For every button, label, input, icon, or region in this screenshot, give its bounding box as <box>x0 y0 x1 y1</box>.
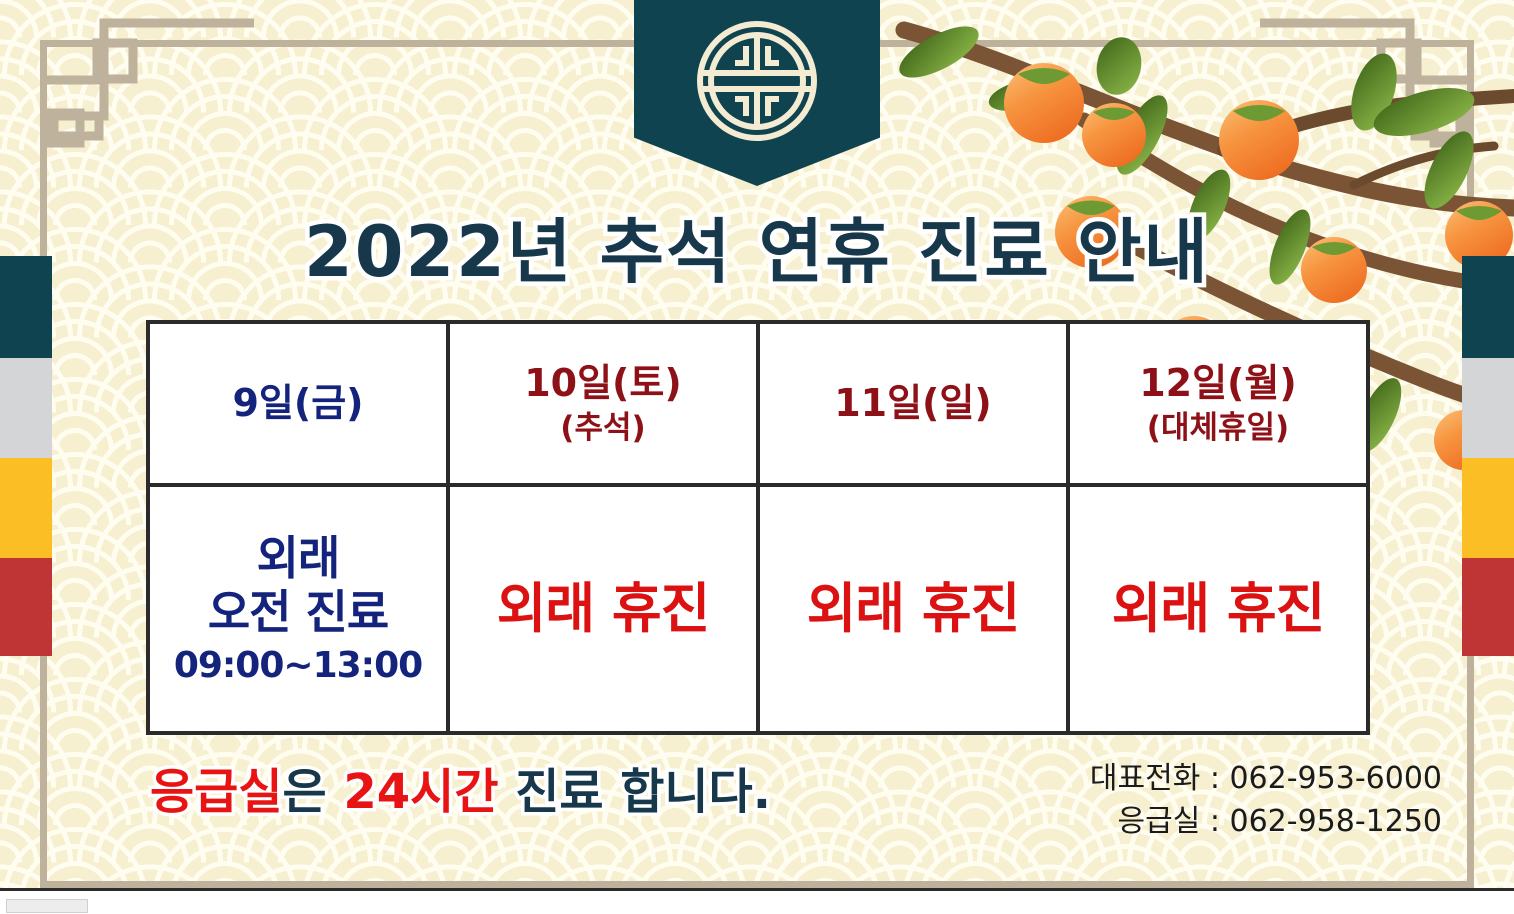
right-color-bars <box>1462 256 1514 656</box>
date-label: 10일(토) <box>524 361 682 406</box>
er-phone-line: 응급실 : 062-958-1250 <box>1090 801 1442 844</box>
table-body-cell-day-1: 외래 오전 진료 09:00~13:00 <box>150 487 450 731</box>
table-body-cell-day-3: 외래 휴진 <box>760 487 1070 731</box>
longevity-circle-emblem-icon <box>692 16 822 146</box>
date-label: 11일(일) <box>834 381 992 426</box>
table-header-cell-day-2: 10일(토) (추석) <box>450 324 760 487</box>
status-label: 외래 휴진 <box>497 577 710 641</box>
page-title: 2022년 추석 연휴 진료 안내 <box>0 196 1514 297</box>
date-label: 9일(금) <box>232 381 363 426</box>
taskbar-item-stub[interactable] <box>6 899 88 913</box>
bottom-screen-strip <box>0 891 1514 914</box>
date-label: 12일(월) <box>1139 361 1297 406</box>
date-note-label: (대체휴일) <box>1147 410 1289 447</box>
status-label: 외래 휴진 <box>807 577 1020 641</box>
contact-phone-block: 대표전화 : 062-953-6000 응급실 : 062-958-1250 <box>1090 758 1442 843</box>
color-bar-red <box>1462 558 1514 656</box>
left-color-bars <box>0 256 52 656</box>
table-body-cell-day-2: 외래 휴진 <box>450 487 760 731</box>
color-bar-gold <box>1462 458 1514 558</box>
status-label-line2: 오전 진료 <box>208 585 388 639</box>
er-notice-part-hours: 24시간 <box>343 764 498 820</box>
status-label-line1: 외래 <box>257 531 340 585</box>
status-label: 외래 휴진 <box>1112 577 1325 641</box>
emergency-room-notice: 응급실은 24시간 진료 합니다. <box>150 752 771 822</box>
meander-corner-ornament-top-right <box>1260 18 1470 168</box>
meander-corner-ornament-top-left <box>44 18 254 168</box>
hours-label: 09:00~13:00 <box>174 645 422 687</box>
er-notice-part-emergency: 응급실 <box>150 764 282 820</box>
meander-corner-icon <box>1260 18 1470 168</box>
color-bar-gold <box>0 458 52 558</box>
holiday-schedule-table: 9일(금) 10일(토) (추석) 11일(일) 12일(월) (대체휴일) 외… <box>146 320 1370 735</box>
date-note-label: (추석) <box>560 410 645 447</box>
table-header-cell-day-1: 9일(금) <box>150 324 450 487</box>
er-notice-part-topic: 은 <box>282 764 343 820</box>
color-bar-red <box>0 558 52 656</box>
table-header-cell-day-3: 11일(일) <box>760 324 1070 487</box>
meander-corner-icon <box>44 18 254 168</box>
er-notice-part-tail: 진료 합니다. <box>498 764 770 820</box>
table-body-cell-day-4: 외래 휴진 <box>1070 487 1366 731</box>
color-bar-gray <box>1462 358 1514 458</box>
table-header-cell-day-4: 12일(월) (대체휴일) <box>1070 324 1366 487</box>
holiday-notice-poster: 2022년 추석 연휴 진료 안내 9일(금) 10일(토) (추석) 11일(… <box>0 0 1514 914</box>
color-bar-gray <box>0 358 52 458</box>
main-phone-line: 대표전화 : 062-953-6000 <box>1090 758 1442 801</box>
